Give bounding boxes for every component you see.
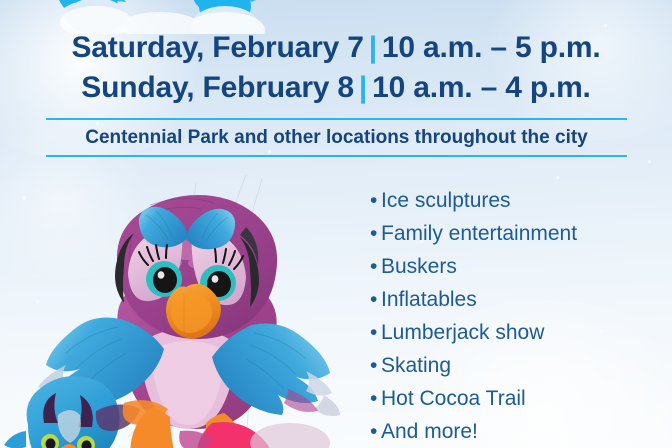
list-item: •Hot Cocoa Trail <box>370 382 670 415</box>
list-item-label: Buskers <box>381 255 457 278</box>
list-item-label: Skating <box>381 354 451 377</box>
list-item-label: And more! <box>381 420 478 443</box>
schedule-block: Saturday, February 7|10 a.m. – 5 p.m. Su… <box>0 28 672 108</box>
list-item: •Family entertainment <box>370 217 670 250</box>
list-item: •Lumberjack show <box>370 316 670 349</box>
schedule-separator: | <box>354 71 372 104</box>
list-item-label: Lumberjack show <box>381 321 544 344</box>
list-item: •Inflatables <box>370 283 670 316</box>
divider-rule-bottom <box>46 155 627 157</box>
snowflake <box>556 176 559 179</box>
list-item-label: Ice sculptures <box>381 189 511 212</box>
schedule-line-sunday: Sunday, February 8|10 a.m. – 4 p.m. <box>0 68 672 108</box>
location-text: Centennial Park and other locations thro… <box>46 120 627 155</box>
list-item: •Buskers <box>370 250 670 283</box>
list-item-label: Inflatables <box>381 288 477 311</box>
schedule-separator: | <box>364 31 382 64</box>
winter-festival-poster: Saturday, February 7|10 a.m. – 5 p.m. Su… <box>0 0 672 448</box>
schedule-day-date: Saturday, February 7 <box>71 31 363 64</box>
snowflake <box>648 160 651 163</box>
list-item: •Ice sculptures <box>370 184 670 217</box>
list-item-label: Hot Cocoa Trail <box>381 387 526 410</box>
list-item: •And more! <box>370 415 670 448</box>
location-band: Centennial Park and other locations thro… <box>46 118 627 157</box>
list-item-label: Family entertainment <box>381 222 577 245</box>
owl-kite-artwork <box>0 175 372 448</box>
schedule-line-saturday: Saturday, February 7|10 a.m. – 5 p.m. <box>0 28 672 68</box>
list-item: •Skating <box>370 349 670 382</box>
schedule-hours: 10 a.m. – 5 p.m. <box>382 31 601 64</box>
schedule-hours: 10 a.m. – 4 p.m. <box>372 71 591 104</box>
activities-list: •Ice sculptures •Family entertainment •B… <box>370 184 670 448</box>
schedule-day-date: Sunday, February 8 <box>81 71 354 104</box>
